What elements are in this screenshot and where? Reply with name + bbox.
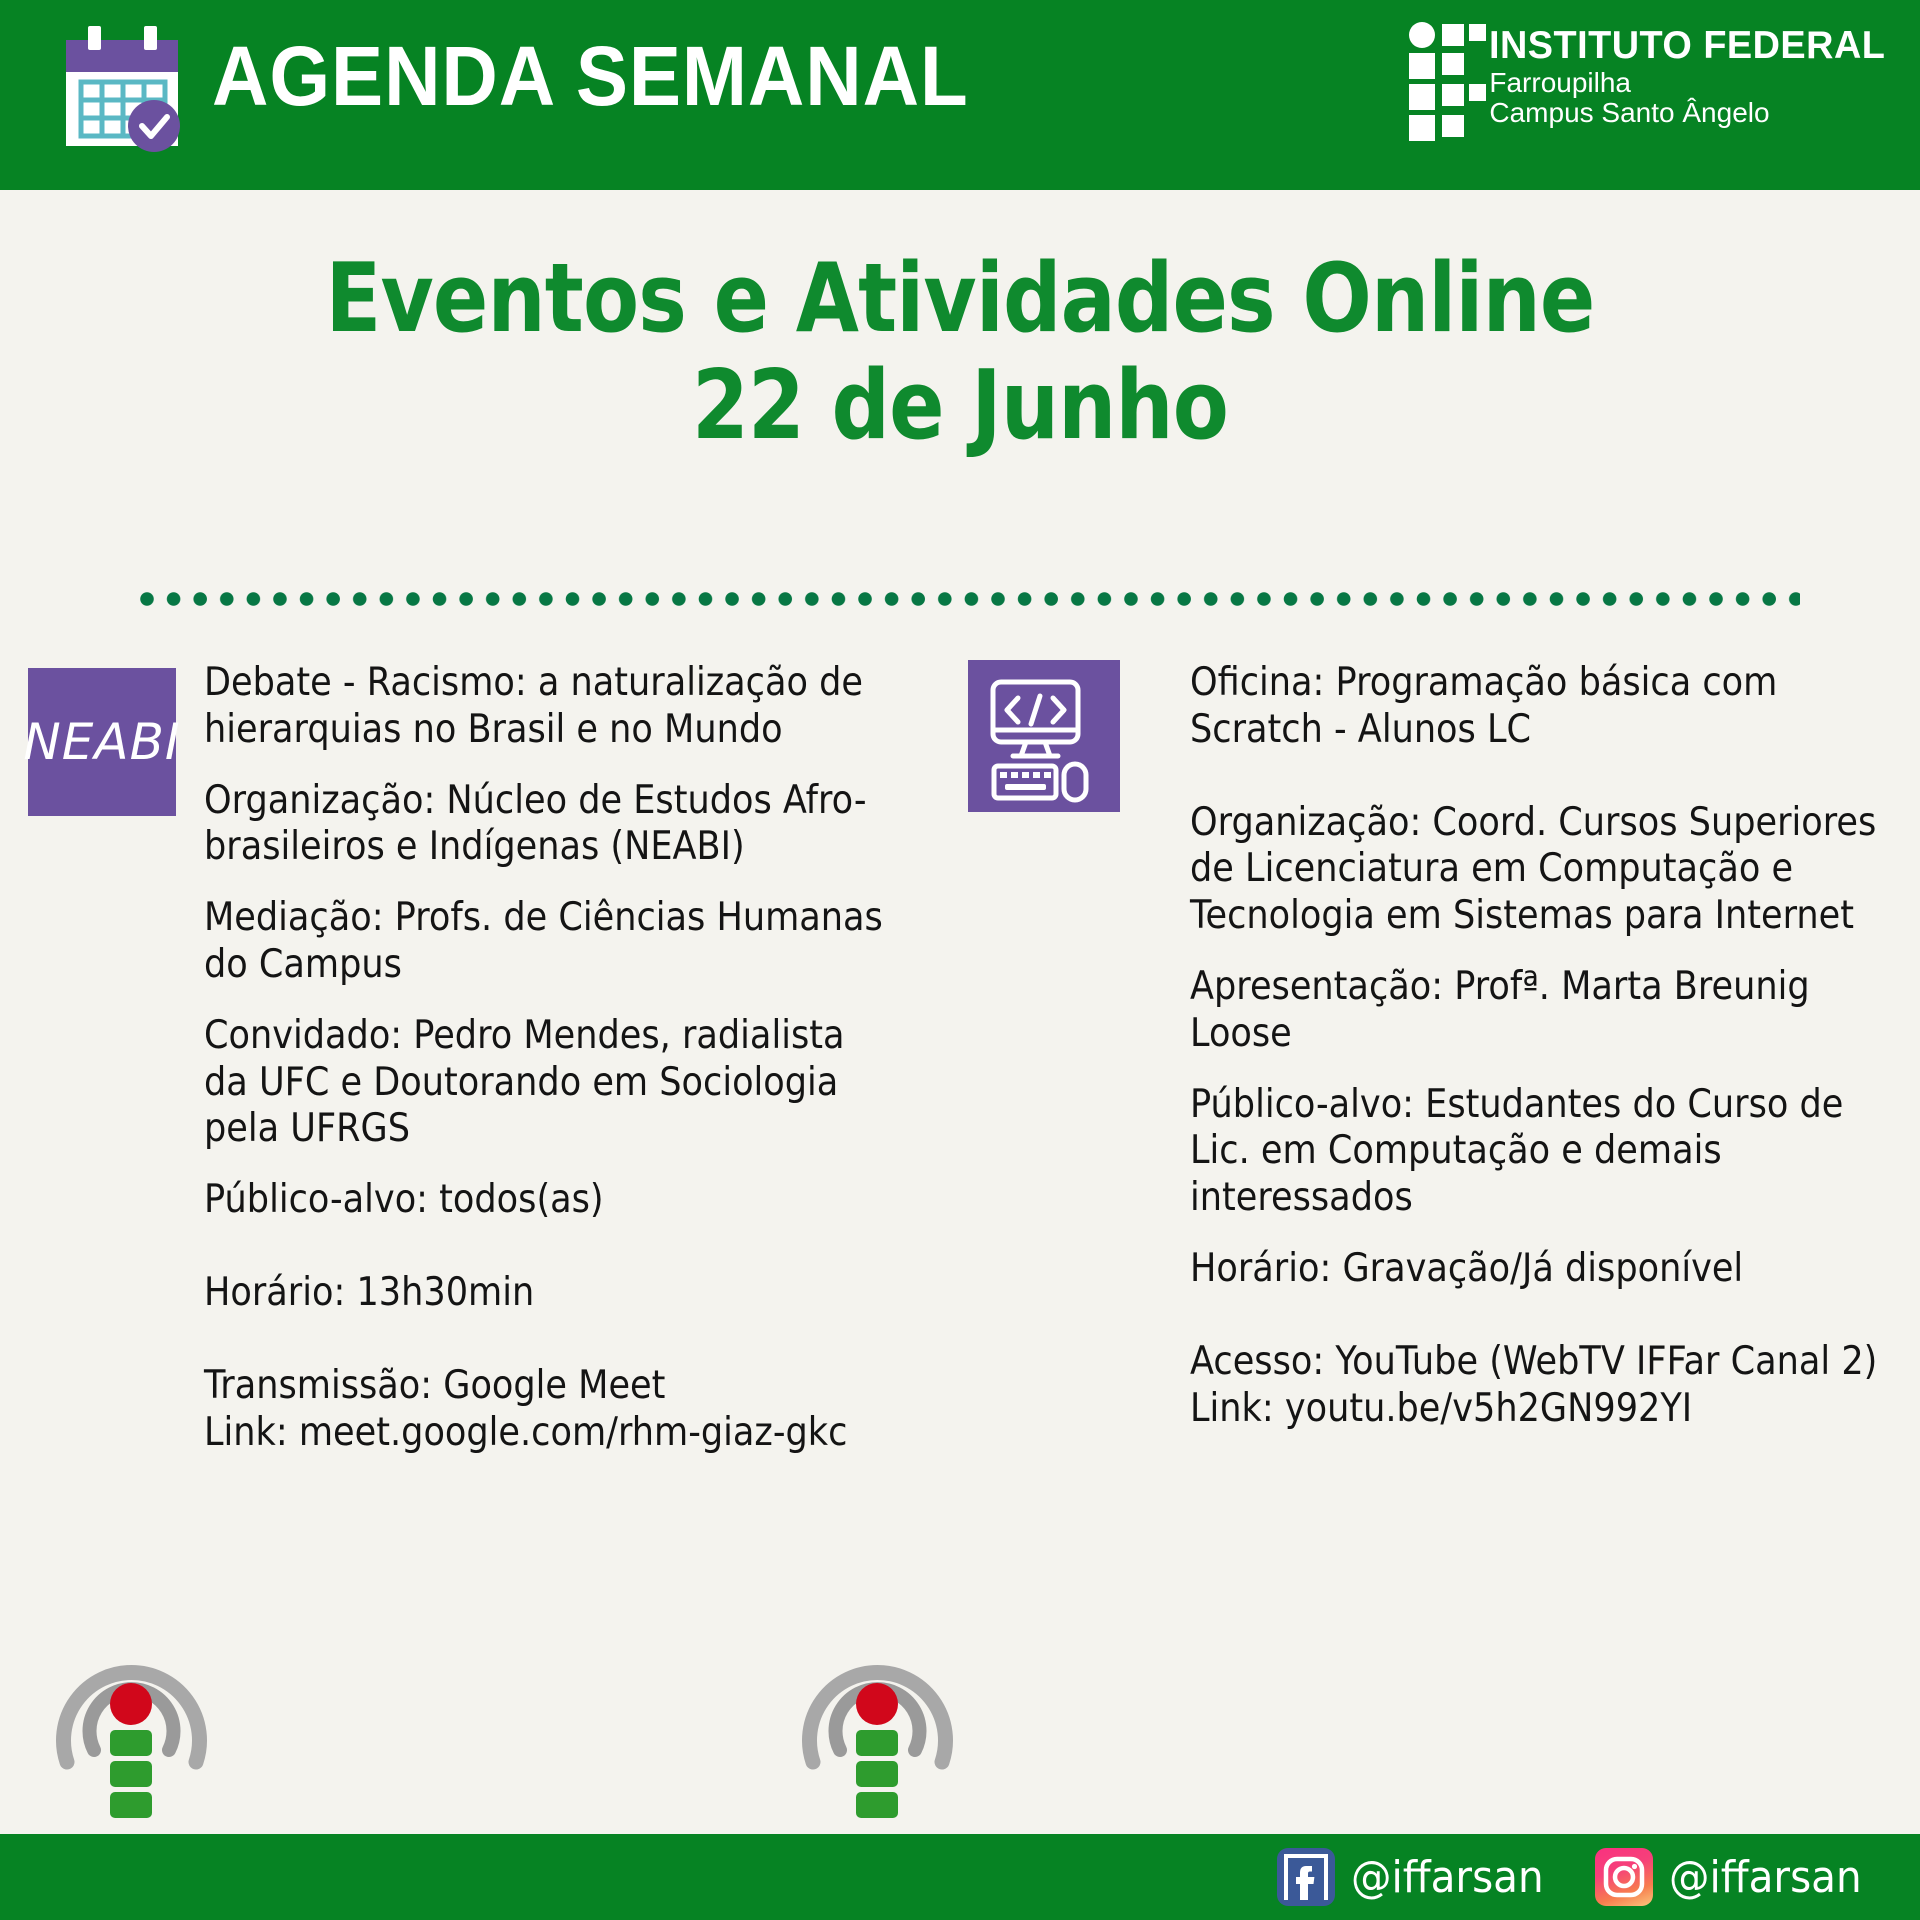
neabi-badge-label: NEABI	[23, 713, 180, 771]
logo-line-farroupilha: Farroupilha	[1489, 69, 1898, 97]
event-organization: Organização: Coord. Cursos Superiores de…	[1190, 800, 1889, 940]
logo-line-campus: Campus Santo Ângelo	[1489, 99, 1898, 127]
neabi-badge-icon: NEABI	[28, 668, 176, 816]
event-audience: Público-alvo: todos(as)	[204, 1177, 893, 1224]
page-footer: @iffarsan @iffarsan	[0, 1834, 1920, 1920]
event-audience: Público-alvo: Estudantes do Curso de Lic…	[1190, 1082, 1889, 1222]
facebook-link[interactable]: @iffarsan	[1277, 1848, 1560, 1906]
event-organization: Organização: Núcleo de Estudos Afro-bras…	[204, 778, 893, 872]
instagram-handle: @iffarsan	[1669, 1852, 1862, 1903]
event-link[interactable]: Link: youtu.be/v5h2GN992YI	[1190, 1386, 1889, 1433]
page-title: AGENDA SEMANAL	[212, 28, 969, 125]
main-title-block: Eventos e Atividades Online 22 de Junho	[0, 246, 1920, 461]
iffar-logo: INSTITUTO FEDERAL Farroupilha Campus San…	[1409, 22, 1898, 142]
instagram-icon[interactable]	[1595, 1848, 1653, 1906]
event-guest: Convidado: Pedro Mendes, radialista da U…	[204, 1013, 893, 1153]
event-access: Acesso: YouTube (WebTV IFFar Canal 2)	[1190, 1339, 1889, 1386]
page-header: AGENDA SEMANAL INSTITUTO FEDERAL Farroup…	[0, 0, 1920, 190]
instagram-link[interactable]: @iffarsan	[1595, 1848, 1878, 1906]
event-broadcast: Transmissão: Google Meet	[204, 1363, 893, 1410]
event-card-scratch: Oficina: Programação básica com Scratch …	[968, 660, 1668, 1462]
broadcast-live-icon	[790, 1622, 965, 1822]
event-time: Horário: 13h30min	[204, 1270, 893, 1317]
event-title: Oficina: Programação básica com Scratch …	[1190, 660, 1889, 754]
event-link[interactable]: Link: meet.google.com/rhm-giaz-gkc	[204, 1410, 893, 1457]
facebook-icon[interactable]	[1277, 1848, 1335, 1906]
facebook-handle: @iffarsan	[1351, 1852, 1544, 1903]
event-title: Debate - Racismo: a naturalização de hie…	[204, 660, 893, 754]
broadcast-live-icon	[44, 1622, 219, 1822]
event-time: Horário: Gravação/Já disponível	[1190, 1246, 1889, 1293]
event-presentation: Apresentação: Profª. Marta Breunig Loose	[1190, 964, 1889, 1058]
logo-line-institute: INSTITUTO FEDERAL	[1489, 26, 1885, 65]
event-card-neabi: NEABI Debate - Racismo: a naturalização …	[204, 660, 894, 1486]
code-monitor-icon	[968, 660, 1120, 812]
title-line-1: Eventos e Atividades Online	[134, 246, 1785, 353]
iffar-logo-mark	[1409, 22, 1475, 142]
dotted-divider	[140, 590, 1800, 608]
event-mediation: Mediação: Profs. de Ciências Humanas do …	[204, 895, 893, 989]
calendar-check-icon	[58, 22, 190, 152]
title-line-2: 22 de Junho	[134, 353, 1785, 460]
